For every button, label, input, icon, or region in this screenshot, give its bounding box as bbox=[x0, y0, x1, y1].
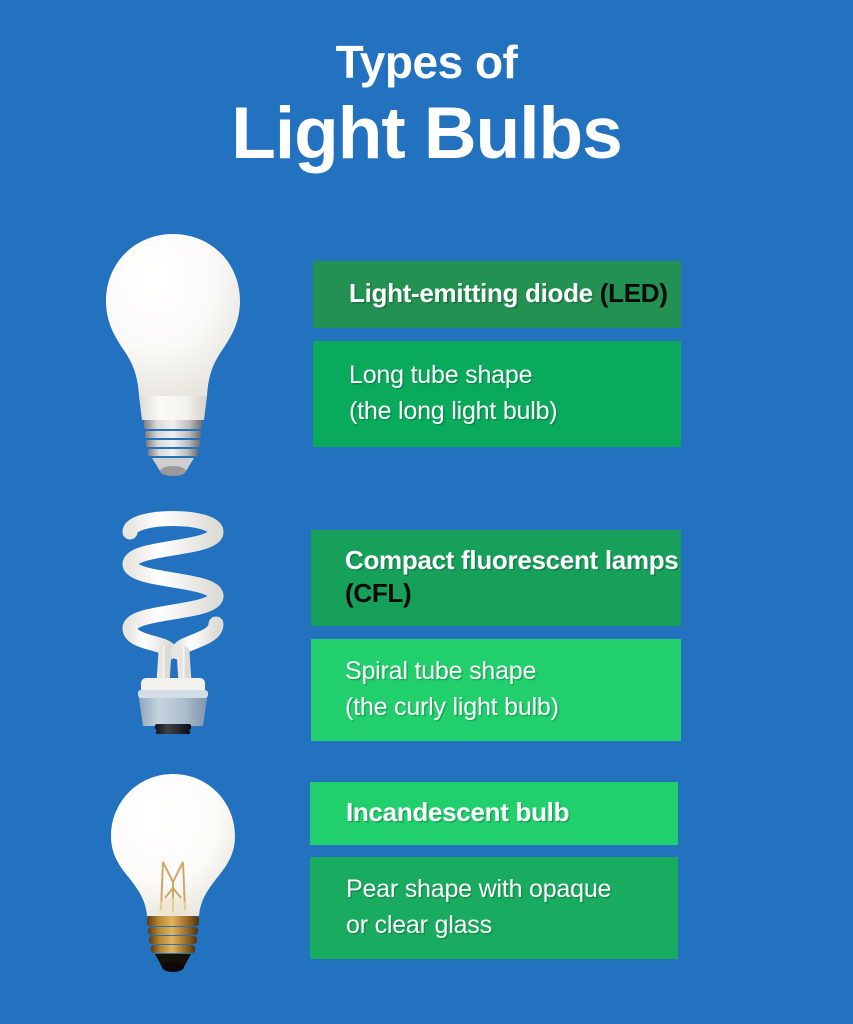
incandescent-description-line-1: Pear shape with opaque bbox=[346, 871, 678, 907]
page-title: Types of Light Bulbs bbox=[0, 34, 853, 176]
led-heading-box: Light-emitting diode (LED) bbox=[313, 261, 681, 328]
cfl-heading-box: Compact fluorescent lamps (CFL) bbox=[311, 530, 681, 626]
cfl-heading: Compact fluorescent lamps (CFL) bbox=[345, 544, 681, 610]
title-line-2: Light Bulbs bbox=[0, 92, 853, 176]
led-heading-main: Light-emitting diode bbox=[349, 278, 600, 308]
led-description-box: Long tube shape (the long light bulb) bbox=[313, 341, 681, 447]
incandescent-description-box: Pear shape with opaque or clear glass bbox=[310, 857, 678, 959]
cfl-heading-abbr: (CFL) bbox=[345, 578, 411, 608]
bulb-row-led: Light-emitting diode (LED) Long tube sha… bbox=[0, 228, 853, 478]
cfl-heading-main: Compact fluorescent lamps bbox=[345, 545, 678, 575]
led-bulb-image bbox=[55, 228, 290, 478]
incandescent-heading-box: Incandescent bulb bbox=[310, 782, 678, 845]
led-description-line-1: Long tube shape bbox=[349, 357, 681, 393]
cfl-text-group: Compact fluorescent lamps (CFL) Spiral t… bbox=[311, 530, 681, 741]
incandescent-heading-main: Incandescent bulb bbox=[346, 797, 569, 827]
led-heading: Light-emitting diode (LED) bbox=[349, 277, 681, 310]
incandescent-description-line-2: or clear glass bbox=[346, 907, 678, 943]
incandescent-bulb-icon bbox=[103, 770, 243, 975]
cfl-description-line-2: (the curly light bulb) bbox=[345, 689, 681, 725]
led-description-line-2: (the long light bulb) bbox=[349, 393, 681, 429]
bulb-row-incandescent: Incandescent bulb Pear shape with opaque… bbox=[0, 765, 853, 980]
cfl-description-line-1: Spiral tube shape bbox=[345, 653, 681, 689]
incandescent-bulb-image bbox=[55, 765, 290, 980]
cfl-description-box: Spiral tube shape (the curly light bulb) bbox=[311, 639, 681, 741]
incandescent-text-group: Incandescent bulb Pear shape with opaque… bbox=[310, 782, 678, 959]
bulb-row-cfl: Compact fluorescent lamps (CFL) Spiral t… bbox=[0, 500, 853, 735]
incandescent-heading: Incandescent bulb bbox=[346, 796, 678, 829]
title-line-1: Types of bbox=[0, 34, 853, 90]
led-bulb-icon bbox=[98, 228, 248, 478]
led-text-group: Light-emitting diode (LED) Long tube sha… bbox=[313, 261, 681, 447]
led-heading-abbr: (LED) bbox=[600, 278, 668, 308]
infographic-page: Types of Light Bulbs bbox=[0, 0, 853, 1024]
cfl-bulb-image bbox=[55, 500, 290, 735]
cfl-spiral-bulb-icon bbox=[108, 502, 238, 734]
